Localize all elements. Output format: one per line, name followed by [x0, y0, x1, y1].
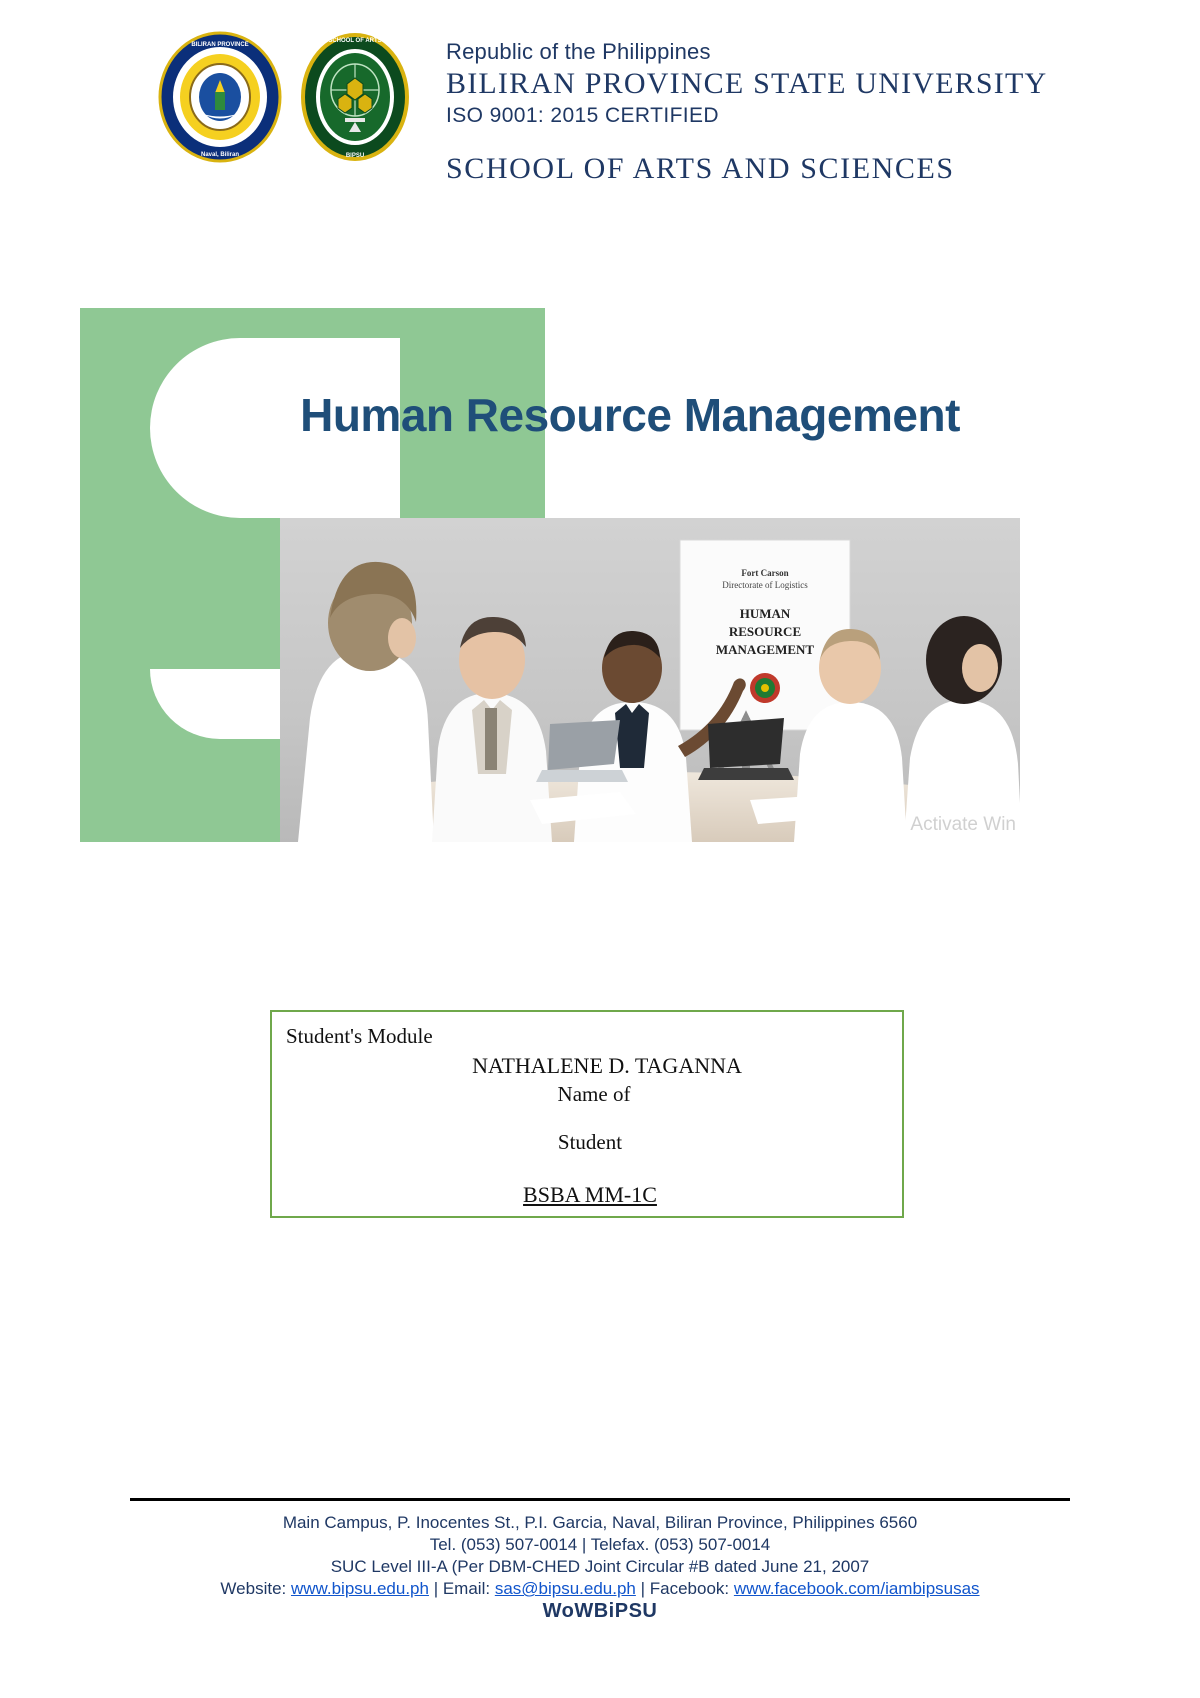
- footer-website-label: Website:: [220, 1579, 286, 1598]
- header-university-name: BILIRAN PROVINCE STATE UNIVERSITY: [446, 66, 1186, 102]
- svg-text:Fort Carson: Fort Carson: [741, 568, 788, 578]
- footer-address: Main Campus, P. Inocentes St., P.I. Garc…: [0, 1512, 1200, 1534]
- footer-facebook-link[interactable]: www.facebook.com/iambipsusas: [734, 1579, 980, 1598]
- cover-title: Human Resource Management: [240, 388, 1020, 442]
- footer-tel: Tel. (053) 507-0014 | Telefax. (053) 507…: [0, 1534, 1200, 1556]
- footer-links-line: Website: www.bipsu.edu.ph | Email: sas@b…: [0, 1578, 1200, 1600]
- header-text-block: Republic of the Philippines BILIRAN PROV…: [446, 38, 1186, 186]
- svg-text:SCHOOL OF ARTS: SCHOOL OF ARTS: [328, 38, 381, 44]
- school-of-arts-and-sciences-seal-icon: SCHOOL OF ARTS BIPSU: [295, 30, 425, 165]
- header-school-name: SCHOOL OF ARTS AND SCIENCES: [446, 152, 1186, 186]
- student-caption: Student: [272, 1130, 902, 1155]
- green-panel-lower-cutout: [150, 669, 280, 739]
- svg-text:RESOURCE: RESOURCE: [729, 624, 801, 639]
- svg-text:BILIRAN PROVINCE: BILIRAN PROVINCE: [191, 42, 248, 48]
- header-republic-line: Republic of the Philippines: [446, 38, 1186, 66]
- footer-divider: [130, 1498, 1070, 1501]
- page-header: BILIRAN PROVINCE Naval, Biliran S: [0, 0, 1200, 200]
- svg-text:HUMAN: HUMAN: [740, 606, 791, 621]
- activate-windows-watermark: Activate Win: [910, 814, 1016, 836]
- green-panel-lower: [80, 519, 280, 842]
- footer-separator-2: | Facebook:: [641, 1579, 730, 1598]
- footer-separator-1: | Email:: [434, 1579, 490, 1598]
- name-of-caption: Name of: [272, 1082, 902, 1107]
- page-footer: Main Campus, P. Inocentes St., P.I. Garc…: [0, 1512, 1200, 1600]
- footer-suc-level: SUC Level III-A (Per DBM-CHED Joint Circ…: [0, 1556, 1200, 1578]
- svg-text:Directorate of Logistics: Directorate of Logistics: [722, 580, 808, 590]
- cover-photo-meeting: Fort Carson Directorate of Logistics HUM…: [280, 518, 1020, 842]
- svg-text:MANAGEMENT: MANAGEMENT: [716, 642, 815, 657]
- footer-email-link[interactable]: sas@bipsu.edu.ph: [495, 1579, 636, 1598]
- student-section: BSBA MM-1C: [272, 1182, 902, 1208]
- year-and-section-caption: Year & Section: [272, 1211, 902, 1218]
- svg-text:BIPSU: BIPSU: [346, 153, 364, 159]
- student-name: NATHALENE D. TAGANNA: [272, 1053, 902, 1079]
- university-seals: BILIRAN PROVINCE Naval, Biliran S: [155, 30, 425, 165]
- footer-website-link[interactable]: www.bipsu.edu.ph: [291, 1579, 429, 1598]
- svg-text:Naval, Biliran: Naval, Biliran: [201, 152, 239, 158]
- student-module-box: Student's Module NATHALENE D. TAGANNA Na…: [270, 1010, 904, 1218]
- student-module-label: Student's Module: [286, 1024, 433, 1049]
- header-iso-line: ISO 9001: 2015 CERTIFIED: [446, 102, 1186, 130]
- wowbipsu-tagline: WoWBiPSU: [0, 1600, 1200, 1623]
- bipsu-university-seal-icon: BILIRAN PROVINCE Naval, Biliran: [155, 30, 285, 165]
